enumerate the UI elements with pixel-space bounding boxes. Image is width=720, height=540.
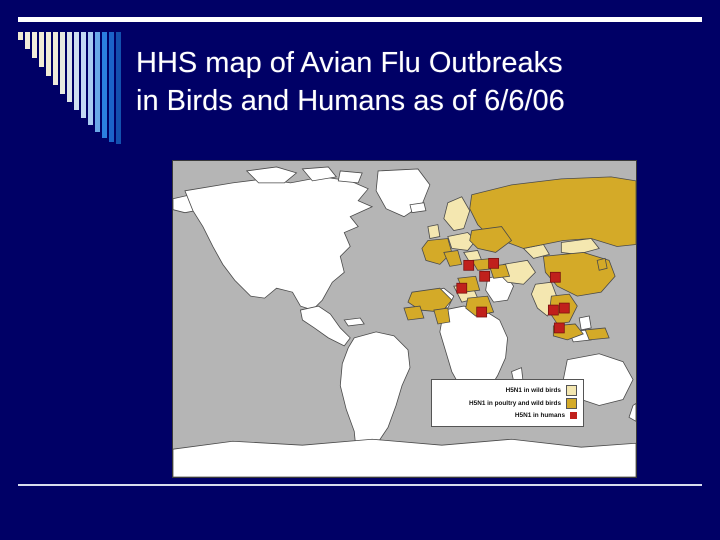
legend-label-wild-birds: H5N1 in wild birds	[506, 387, 561, 394]
motif-bar-8	[67, 32, 72, 102]
legend-swatch-wild-birds	[566, 385, 577, 396]
motif-bar-6	[53, 32, 58, 85]
bottom-divider-rule	[18, 484, 702, 486]
slide-canvas: HHS map of Avian Flu Outbreaks in Birds …	[0, 0, 720, 540]
legend-item-poultry-and-wild-birds: H5N1 in poultry and wild birds	[436, 397, 577, 410]
motif-bar-15	[116, 32, 121, 144]
motif-bar-3	[32, 32, 37, 58]
top-divider-rule	[18, 17, 702, 22]
motif-bar-12	[95, 32, 100, 132]
legend-swatch-poultry-and-wild-birds	[566, 398, 577, 409]
legend-label-humans: H5N1 in humans	[515, 412, 565, 419]
motif-bar-13	[102, 32, 107, 138]
legend-item-wild-birds: H5N1 in wild birds	[436, 384, 577, 397]
motif-bar-9	[74, 32, 79, 110]
motif-bar-14	[109, 32, 114, 142]
legend-item-humans: H5N1 in humans	[436, 409, 577, 422]
motif-bar-2	[25, 32, 30, 49]
map-image-frame: H5N1 in wild birds H5N1 in poultry and w…	[172, 160, 637, 478]
motif-bar-4	[39, 32, 44, 67]
title-line-2: in Birds and Humans as of 6/6/06	[136, 82, 696, 120]
decorative-bar-motif	[18, 32, 126, 144]
motif-bar-1	[18, 32, 23, 40]
world-map-graphic	[173, 161, 636, 477]
map-legend: H5N1 in wild birds H5N1 in poultry and w…	[431, 379, 584, 427]
legend-label-poultry-and-wild-birds: H5N1 in poultry and wild birds	[469, 400, 561, 407]
legend-swatch-humans	[570, 412, 577, 419]
motif-bar-10	[81, 32, 86, 118]
motif-bar-5	[46, 32, 51, 76]
page-title: HHS map of Avian Flu Outbreaks in Birds …	[136, 44, 696, 121]
motif-bar-11	[88, 32, 93, 125]
motif-bar-7	[60, 32, 65, 94]
title-line-1: HHS map of Avian Flu Outbreaks	[136, 44, 696, 82]
